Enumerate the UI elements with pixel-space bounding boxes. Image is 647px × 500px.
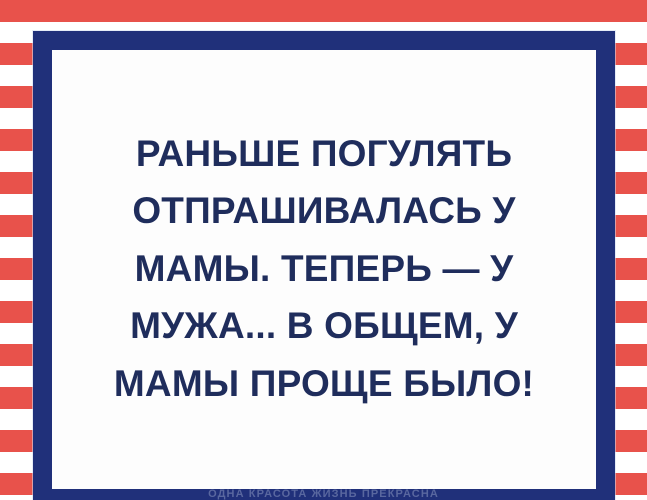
quote-line-1: РАНЬШЕ ПОГУЛЯТЬ	[52, 125, 596, 183]
quote-line-2: ОТПРАШИВАЛАСЬ У	[52, 182, 596, 240]
quote-card: РАНЬШЕ ПОГУЛЯТЬ ОТПРАШИВАЛАСЬ У МАМЫ. ТЕ…	[52, 50, 596, 489]
navy-frame-border: РАНЬШЕ ПОГУЛЯТЬ ОТПРАШИВАЛАСЬ У МАМЫ. ТЕ…	[33, 31, 615, 500]
quote-text-block: РАНЬШЕ ПОГУЛЯТЬ ОТПРАШИВАЛАСЬ У МАМЫ. ТЕ…	[52, 125, 596, 415]
quote-line-3: МАМЫ. ТЕПЕРЬ — У	[52, 240, 596, 298]
quote-line-4: МУЖА... В ОБЩЕМ, У	[52, 297, 596, 355]
meme-image: РАНЬШЕ ПОГУЛЯТЬ ОТПРАШИВАЛАСЬ У МАМЫ. ТЕ…	[0, 0, 647, 500]
quote-line-5: МАМЫ ПРОЩЕ БЫЛО!	[52, 355, 596, 413]
